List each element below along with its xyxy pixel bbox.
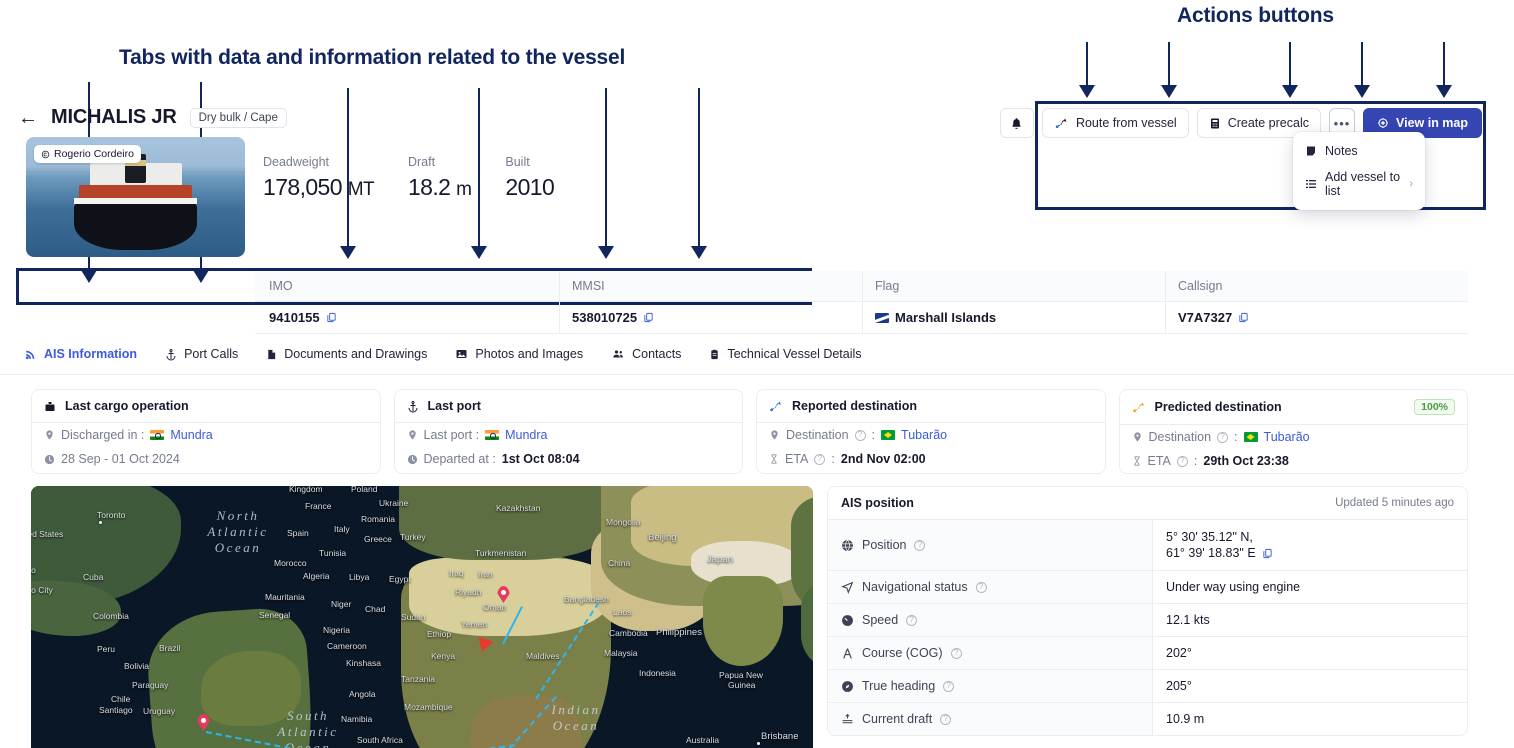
vessel-stats: Deadweight 178,050 MT Draft 18.2 m Built…: [245, 137, 588, 201]
position-line-1: 5° 30' 35.12" N,: [1166, 529, 1454, 545]
help-icon[interactable]: ?: [940, 714, 951, 725]
ais-signal-icon: [24, 348, 37, 361]
annotation-arrow-line: [1443, 42, 1445, 87]
map-label: Turkmenistan: [475, 548, 526, 558]
map-label: Bolivia: [124, 661, 149, 671]
help-icon[interactable]: ?: [914, 540, 925, 551]
stat-label: Deadweight: [263, 155, 374, 169]
card-line-link[interactable]: Tubarão: [1264, 430, 1310, 444]
ais-key-label: Navigational status: [862, 580, 968, 594]
identity-header-mmsi: MMSI: [560, 271, 863, 301]
vessel-summary: Rogerio Cordeiro Deadweight 178,050 MT D…: [0, 137, 1514, 257]
stat-value: 18.2 m: [408, 174, 471, 201]
map-label: Mauritania: [265, 592, 305, 602]
card-title: Last cargo operation: [65, 399, 189, 413]
cargo-icon: [44, 400, 56, 413]
map-label: Kenya: [431, 651, 455, 661]
card-line-1: Destination ? : Tubarão: [757, 423, 1105, 447]
map-label: Poland: [351, 486, 377, 494]
photo-credit-label: Rogerio Cordeiro: [54, 148, 134, 160]
clock-icon: [44, 454, 55, 465]
annotation-tabs-note: Tabs with data and information related t…: [119, 46, 625, 70]
stat-label: Draft: [408, 155, 471, 169]
map-label: Iraq: [449, 568, 464, 578]
menu-item-label: Add vessel to list: [1325, 170, 1401, 198]
card-title: Reported destination: [792, 399, 917, 413]
card-title: Predicted destination: [1155, 400, 1282, 414]
identity-value-row: 9410155 538010725 Marshall Islands: [255, 301, 1468, 334]
copyright-icon: [41, 150, 50, 159]
ais-row-key: Navigational status ?: [828, 571, 1153, 603]
ais-position-title: AIS position: [841, 496, 914, 510]
ais-row-value: 5° 30' 35.12" N, 61° 39' 18.83" E: [1153, 520, 1467, 570]
flag-brazil-icon: [881, 430, 895, 440]
map-label: Indonesia: [639, 668, 676, 678]
map-label: Malaysia: [604, 648, 638, 658]
map-label: Cuba: [83, 572, 103, 582]
tab-contacts[interactable]: Contacts: [597, 343, 695, 365]
ais-position-panel: AIS position Updated 5 minutes ago Posit…: [827, 486, 1468, 736]
tab-technical-vessel-details[interactable]: Technical Vessel Details: [695, 343, 875, 365]
card-last-port: Last port Last port : Mundra Departed at…: [394, 389, 744, 474]
vessel-hull: [74, 202, 197, 250]
pin-icon: [44, 429, 55, 441]
map-label: Paraguay: [132, 680, 168, 690]
stat-number: 18.2: [408, 174, 450, 200]
map-label: Sudan: [401, 612, 426, 622]
stat-number: 178,050: [263, 174, 342, 200]
card-title: Last port: [428, 399, 481, 413]
position-line-2-wrap: 61° 39' 18.83" E: [1166, 545, 1454, 561]
contacts-icon: [611, 348, 625, 360]
position-line-2: 61° 39' 18.83" E: [1166, 545, 1256, 561]
more-actions-menu: Notes Add vessel to list ›: [1293, 132, 1425, 210]
card-line-2: Departed at : 1st Oct 08:04: [395, 447, 743, 471]
card-header: Last cargo operation: [32, 390, 380, 423]
identity-value-callsign: V7A7327: [1166, 302, 1468, 333]
tab-label: Contacts: [632, 347, 681, 361]
card-colon: :: [872, 428, 875, 442]
ais-row-value: 10.9 m: [1153, 703, 1467, 735]
vessel-map[interactable]: NorthAtlanticOcean SouthAtlanticOcean In…: [31, 486, 813, 748]
stat-built: Built 2010: [505, 155, 554, 201]
ocean-label-north-atlantic: NorthAtlanticOcean: [183, 508, 293, 556]
card-colon: :: [1234, 430, 1237, 444]
map-label: Mongolia: [606, 517, 641, 527]
globe-icon: [841, 539, 854, 552]
ais-row-current-draft: Current draft ? 10.9 m: [828, 702, 1467, 735]
ais-row-key: Course (COG) ?: [828, 637, 1153, 669]
card-line-value: 1st Oct 08:04: [502, 452, 580, 466]
vessel-detail-page: ← MICHALIS JR Dry bulk / Cape Route from…: [0, 96, 1514, 748]
help-icon[interactable]: ?: [1217, 432, 1228, 443]
card-line-value: 28 Sep - 01 Oct 2024: [61, 452, 180, 466]
navigation-icon: [841, 581, 854, 594]
city-dot: [757, 742, 760, 745]
photo-icon: [455, 348, 468, 360]
list-icon: [1305, 178, 1317, 190]
map-label: Niger: [331, 599, 351, 609]
map-label: Chile: [111, 694, 130, 704]
callsign-value: V7A7327: [1178, 310, 1232, 325]
help-icon[interactable]: ?: [951, 648, 962, 659]
annotation-arrow-line: [1086, 42, 1088, 87]
card-colon: :: [831, 452, 834, 466]
card-line-1: Last port : Mundra: [395, 423, 743, 447]
map-label: Riyadh: [455, 587, 481, 597]
map-label: Oman: [483, 602, 506, 612]
flag-value: Marshall Islands: [895, 310, 996, 325]
ais-row-course: Course (COG) ? 202°: [828, 636, 1467, 669]
help-icon[interactable]: ?: [906, 615, 917, 626]
vessel-tabs: AIS Information Port Calls Documents and…: [0, 334, 1514, 375]
ais-key-label: Speed: [862, 613, 898, 627]
ais-row-value: 202°: [1153, 637, 1467, 669]
card-last-cargo-operation: Last cargo operation Discharged in : Mun…: [31, 389, 381, 474]
create-precalc-label: Create precalc: [1228, 116, 1309, 130]
help-icon[interactable]: ?: [943, 681, 954, 692]
vessel-hull-stripe: [74, 198, 197, 204]
map-label: Egypt: [389, 574, 411, 584]
photo-credit: Rogerio Cordeiro: [34, 145, 141, 163]
tab-ais-information[interactable]: AIS Information: [20, 343, 151, 365]
annotation-arrow-line: [1361, 42, 1363, 87]
ais-position-updated: Updated 5 minutes ago: [1335, 497, 1454, 509]
tab-photos-and-images[interactable]: Photos and Images: [441, 343, 597, 365]
menu-item-add-vessel-to-list[interactable]: Add vessel to list ›: [1293, 164, 1425, 204]
tab-label: Photos and Images: [475, 347, 583, 361]
help-icon[interactable]: ?: [855, 430, 866, 441]
stat-value: 2010: [505, 174, 554, 201]
hourglass-icon: [769, 453, 779, 465]
ais-row-key: Current draft ?: [828, 703, 1153, 735]
map-label: Santiago: [99, 705, 133, 715]
ais-row-key: Speed ?: [828, 604, 1153, 636]
notifications-bell-button[interactable]: [1000, 108, 1034, 138]
tab-label: Port Calls: [184, 347, 238, 361]
back-arrow-icon[interactable]: ←: [18, 108, 38, 128]
map-label: Laos: [613, 607, 631, 617]
note-icon: [1305, 145, 1317, 157]
map-label: Philippines: [656, 627, 702, 638]
route-orange-icon: [1132, 401, 1146, 414]
stat-unit: MT: [348, 179, 374, 200]
ais-row-value: 205°: [1153, 670, 1467, 702]
map-label: Maldives: [526, 651, 560, 661]
stat-number: 2010: [505, 174, 554, 200]
flag-brazil-icon: [1244, 432, 1258, 442]
card-line-label: Departed at :: [424, 452, 496, 466]
hourglass-icon: [1132, 455, 1142, 467]
identity-header-imo: IMO: [255, 271, 560, 301]
map-label: Yemen: [461, 619, 487, 629]
map-label: Chad: [365, 604, 385, 614]
map-label: Toronto: [97, 510, 125, 520]
ais-row-navigational-status: Navigational status ? Under way using en…: [828, 570, 1467, 603]
stat-deadweight: Deadweight 178,050 MT: [263, 155, 374, 201]
tab-port-calls[interactable]: Port Calls: [151, 343, 252, 365]
route-from-vessel-button[interactable]: Route from vessel: [1042, 108, 1189, 138]
map-label: France: [305, 501, 331, 511]
ais-key-label: True heading: [862, 679, 935, 693]
card-line-label: ETA: [785, 452, 808, 466]
card-line-label: Destination: [786, 428, 849, 442]
map-label: ico: [31, 565, 36, 575]
card-line-2: 28 Sep - 01 Oct 2024: [32, 447, 380, 471]
map-label: Spain: [287, 528, 309, 538]
mmsi-value: 538010725: [572, 310, 637, 325]
map-label: Kazakhstan: [496, 503, 540, 513]
annotation-arrow-line: [1289, 42, 1291, 87]
lower-section: NorthAtlanticOcean SouthAtlanticOcean In…: [0, 474, 1514, 748]
help-icon[interactable]: ?: [814, 454, 825, 465]
map-label: Morocco: [274, 558, 307, 568]
identity-value-flag: Marshall Islands: [863, 302, 1166, 333]
tab-label: Technical Vessel Details: [727, 347, 861, 361]
stat-unit: m: [456, 179, 471, 200]
stat-value: 178,050 MT: [263, 174, 374, 201]
ais-key-label: Current draft: [862, 712, 932, 726]
map-label: Guinea: [728, 680, 755, 690]
map-label: Ukraine: [379, 498, 408, 508]
page-title: MICHALIS JR: [51, 106, 177, 129]
imo-value: 9410155: [269, 310, 320, 325]
map-label: Iran: [478, 569, 493, 579]
map-label: Romania: [361, 514, 395, 524]
pin-icon: [1132, 431, 1143, 443]
identity-value-imo: 9410155: [255, 302, 560, 333]
identity-header-row: IMO MMSI Flag Callsign: [255, 271, 1468, 301]
card-header: Reported destination: [757, 390, 1105, 423]
map-label: Colombia: [93, 611, 129, 621]
map-label: Brazil: [159, 643, 180, 653]
map-label: Turkey: [400, 532, 426, 542]
map-label: Ethiop: [427, 629, 451, 639]
copy-icon[interactable]: [643, 312, 654, 323]
help-icon[interactable]: ?: [1177, 456, 1188, 467]
ais-row-key: True heading ?: [828, 670, 1153, 702]
ais-key-label: Course (COG): [862, 646, 943, 660]
map-label: Namibia: [341, 714, 372, 724]
flag-marshall-islands-icon: [875, 313, 889, 323]
card-line-link[interactable]: Mundra: [170, 428, 212, 442]
card-line-1: Destination ? : Tubarão: [1120, 425, 1468, 449]
calculator-icon: [1209, 117, 1221, 130]
compass-icon: [841, 680, 854, 693]
card-header: Predicted destination 100%: [1120, 390, 1468, 425]
flag-india-icon: [485, 430, 499, 440]
pin-icon: [407, 429, 418, 441]
map-label: Tunisia: [319, 548, 346, 558]
confidence-badge: 100%: [1414, 399, 1455, 415]
identity-header-flag: Flag: [863, 271, 1166, 301]
map-label: Australia: [686, 735, 719, 745]
card-header: Last port: [395, 390, 743, 423]
map-label: ted States: [31, 529, 63, 539]
map-label: Italy: [334, 524, 350, 534]
stat-draft: Draft 18.2 m: [408, 155, 471, 201]
map-label: ico City: [31, 585, 53, 595]
map-label: Japan: [707, 554, 733, 565]
clock-icon: [407, 454, 418, 465]
speedometer-icon: [841, 614, 854, 627]
ais-row-position: Position ? 5° 30' 35.12" N, 61° 39' 18.8…: [828, 519, 1467, 570]
map-label: Nigeria: [323, 625, 350, 635]
summary-cards: Last cargo operation Discharged in : Mun…: [0, 375, 1514, 474]
map-label: Cameroon: [327, 641, 367, 651]
map-label: Algeria: [303, 571, 329, 581]
clipboard-icon: [709, 348, 720, 361]
map-label: Beijing: [648, 532, 677, 543]
copy-icon[interactable]: [326, 312, 337, 323]
card-line-label: Last port :: [424, 428, 480, 442]
map-label: Kinshasa: [346, 658, 381, 668]
route-from-vessel-label: Route from vessel: [1076, 116, 1177, 130]
card-colon: :: [1194, 454, 1197, 468]
map-label: Brisbane: [761, 731, 799, 742]
map-label: China: [608, 558, 630, 568]
card-line-2: ETA ? : 2nd Nov 02:00: [757, 447, 1105, 471]
ais-row-value: Under way using engine: [1153, 571, 1467, 603]
map-label: Kingdom: [289, 486, 323, 494]
flag-india-icon: [150, 430, 164, 440]
pin-icon: [769, 429, 780, 441]
map-label: Greece: [364, 534, 392, 544]
menu-item-label: Notes: [1325, 144, 1358, 158]
document-icon: [266, 348, 277, 361]
vessel-photo[interactable]: Rogerio Cordeiro: [26, 137, 245, 257]
anchor-icon: [165, 348, 177, 361]
map-label: Bangladesh: [564, 594, 609, 604]
card-line-1: Discharged in : Mundra: [32, 423, 380, 447]
card-line-link[interactable]: Mundra: [505, 428, 547, 442]
card-line-value: 29th Oct 23:38: [1203, 454, 1288, 468]
map-label: Libya: [349, 572, 369, 582]
map-label: Peru: [97, 644, 115, 654]
tab-label: AIS Information: [44, 347, 137, 361]
ais-row-true-heading: True heading ? 205°: [828, 669, 1467, 702]
ais-position-header: AIS position Updated 5 minutes ago: [828, 487, 1467, 519]
card-line-value: 2nd Nov 02:00: [841, 452, 926, 466]
ais-row-speed: Speed ? 12.1 kts: [828, 603, 1467, 636]
map-label: Cambodia: [609, 628, 648, 638]
bell-icon: [1010, 117, 1023, 130]
anchor-icon: [407, 400, 419, 413]
identity-value-mmsi: 538010725: [560, 302, 863, 333]
card-line-label: ETA: [1148, 454, 1171, 468]
card-line-label: Discharged in :: [61, 428, 144, 442]
copy-icon[interactable]: [1238, 312, 1249, 323]
target-icon: [1377, 117, 1389, 129]
route-blue-icon: [769, 400, 783, 413]
card-line-2: ETA ? : 29th Oct 23:38: [1120, 449, 1468, 473]
vessel-type-badge: Dry bulk / Cape: [190, 108, 287, 128]
view-in-map-label: View in map: [1396, 116, 1468, 130]
menu-item-notes[interactable]: Notes: [1293, 138, 1425, 164]
city-dot: [99, 521, 102, 524]
card-predicted-destination: Predicted destination 100% Destination ?…: [1119, 389, 1469, 474]
annotation-arrow-line: [1168, 42, 1170, 87]
copy-icon[interactable]: [1262, 548, 1273, 559]
ais-right-column: AIS position Updated 5 minutes ago Posit…: [827, 486, 1468, 748]
ais-row-key: Position ?: [828, 520, 1153, 570]
course-icon: [841, 647, 854, 660]
tab-label: Documents and Drawings: [284, 347, 427, 361]
card-reported-destination: Reported destination Destination ? : Tub…: [756, 389, 1106, 474]
card-line-label: Destination: [1149, 430, 1212, 444]
map-label: Angola: [349, 689, 375, 699]
help-icon[interactable]: ?: [976, 582, 987, 593]
map-label: Uruguay: [143, 706, 175, 716]
map-label: Tanzania: [401, 674, 435, 684]
chevron-right-icon: ›: [1409, 178, 1413, 190]
route-icon: [1054, 117, 1069, 130]
tab-documents-and-drawings[interactable]: Documents and Drawings: [252, 343, 441, 365]
card-line-link[interactable]: Tubarão: [901, 428, 947, 442]
stat-label: Built: [505, 155, 554, 169]
map-label: Papua New: [719, 670, 763, 680]
map-label: South Africa: [357, 735, 403, 745]
ais-key-label: Position: [862, 538, 906, 552]
map-label: Mozambique: [404, 702, 453, 712]
identity-header-callsign: Callsign: [1166, 271, 1468, 301]
annotation-actions-note: Actions buttons: [1177, 4, 1334, 28]
draft-icon: [841, 713, 854, 726]
map-label: Senegal: [259, 610, 290, 620]
ais-row-value: 12.1 kts: [1153, 604, 1467, 636]
vessel-identity-table: IMO MMSI Flag Callsign 9410155 538010725: [255, 271, 1468, 334]
